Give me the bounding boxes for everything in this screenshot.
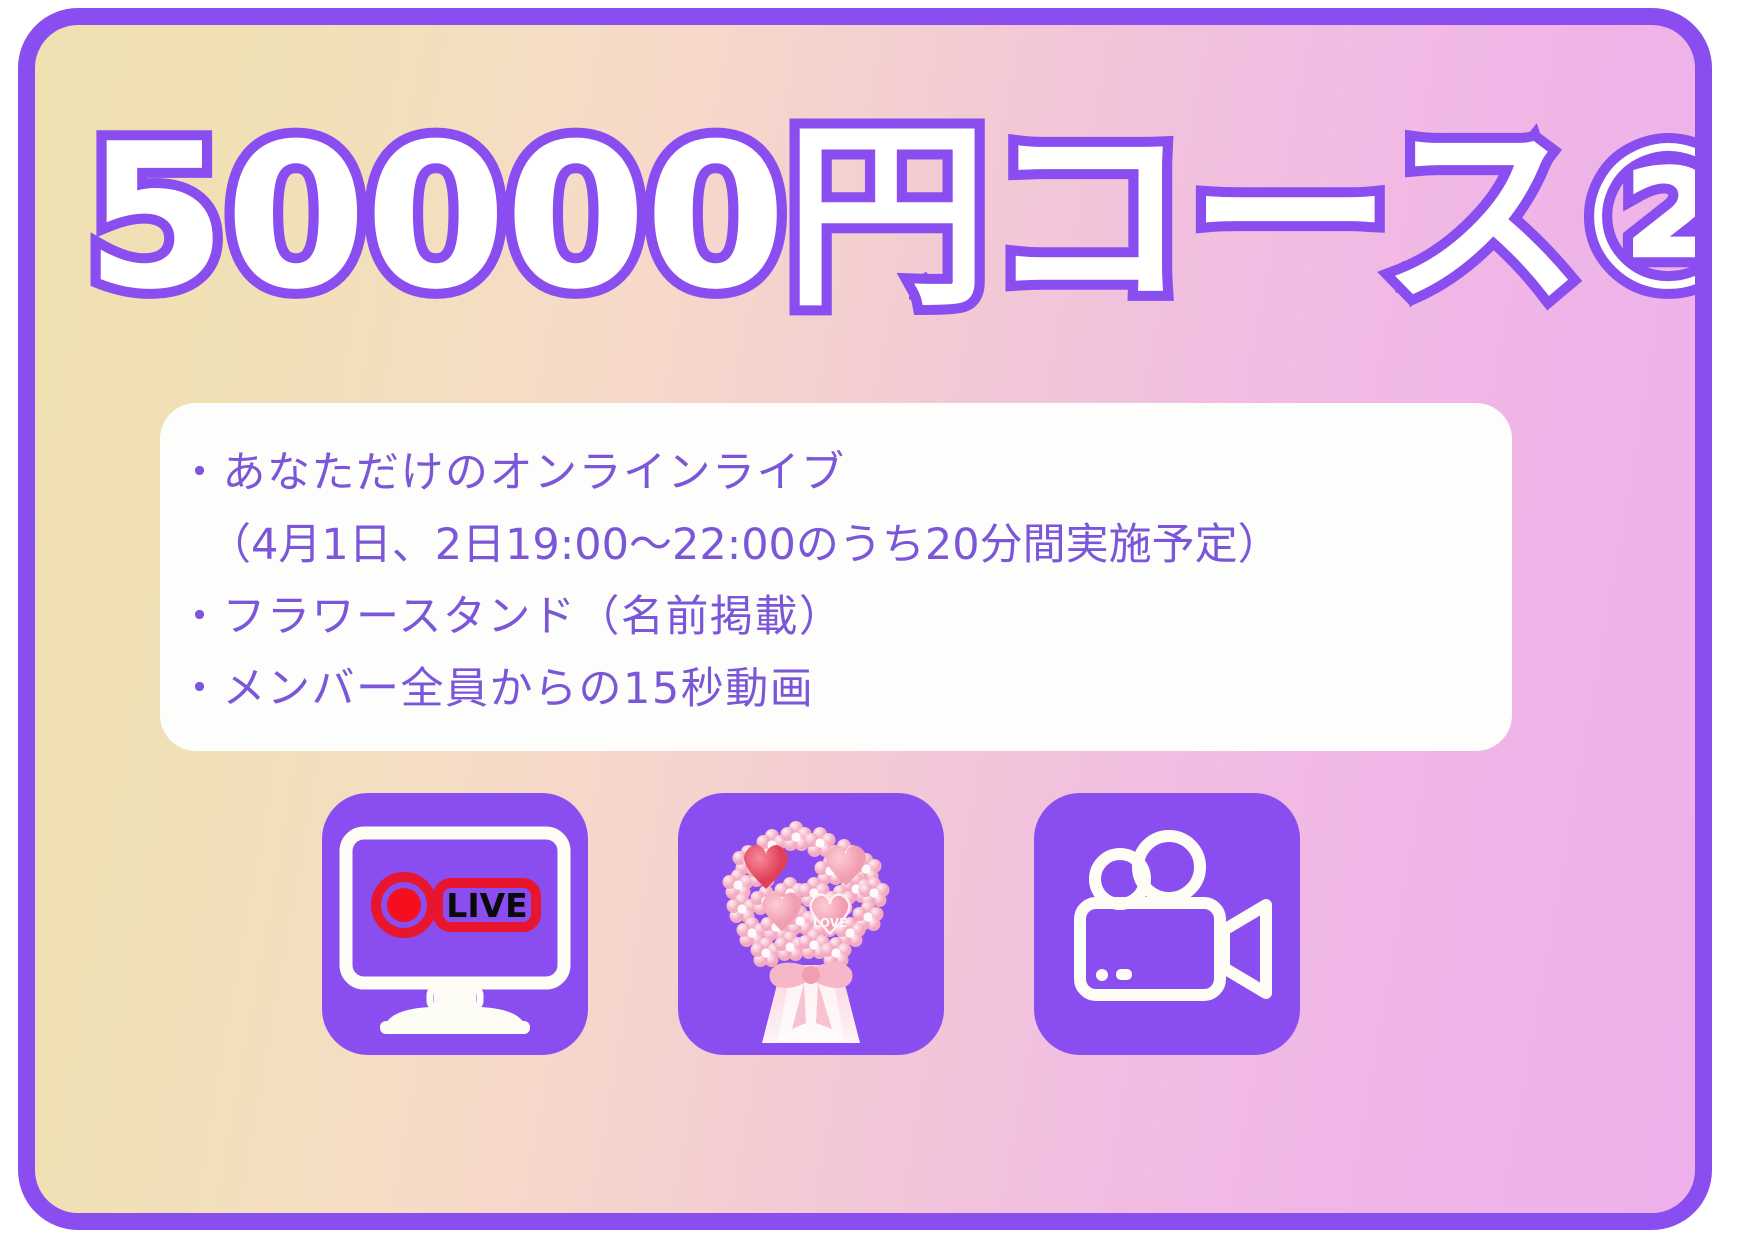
tile-member-video [1034,793,1300,1055]
video-camera-icon [1034,793,1300,1055]
benefit-line-2: （4月1日、2日19:00〜22:00のうち20分間実施予定） [178,509,1478,581]
benefit-line-3: ・フラワースタンド（名前掲載） [178,581,1478,653]
monitor-live-icon: LIVE [322,793,588,1055]
love-heart-label: LOVE [813,916,848,930]
tile-online-live: LIVE [322,793,588,1055]
page-title: 50000円コース② [85,103,1676,333]
benefit-line-1: ・あなただけのオンラインライブ [178,437,1478,509]
title-area: 50000円コース② [85,103,1645,333]
flower-stand-icon: LOVE [678,793,944,1055]
poster-card: 50000円コース② ・あなただけのオンラインライブ （4月1日、2日19:00… [18,8,1712,1230]
tile-flower-stand: LOVE [678,793,944,1055]
icon-tile-row: LIVE [160,793,1512,1065]
benefit-line-4: ・メンバー全員からの15秒動画 [178,653,1478,725]
benefits-card: ・あなただけのオンラインライブ （4月1日、2日19:00〜22:00のうち20… [160,403,1512,751]
live-badge-label: LIVE [446,886,527,925]
